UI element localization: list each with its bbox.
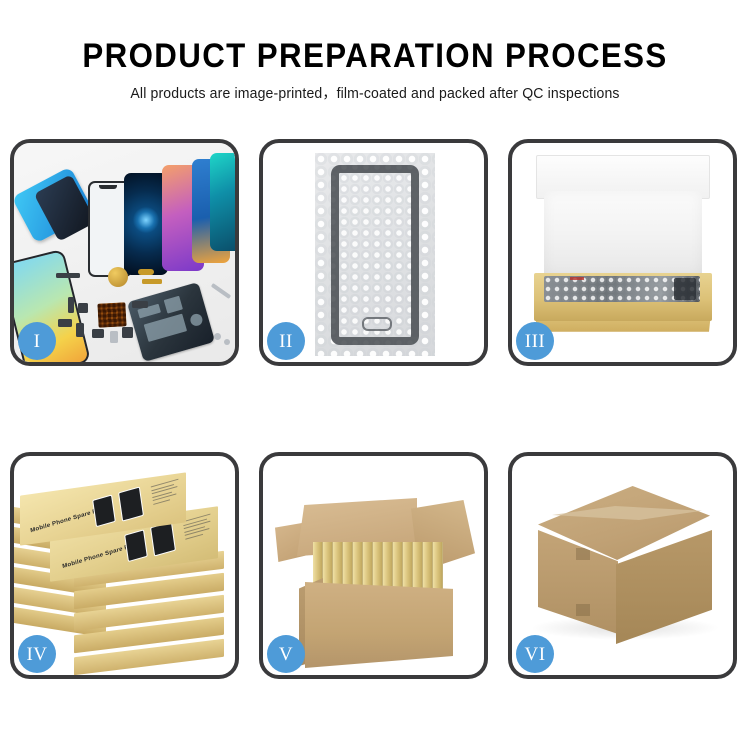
part-small-2 — [78, 303, 88, 313]
packed-screen — [544, 276, 700, 302]
process-step-2: II — [259, 139, 488, 366]
step-badge-4: IV — [18, 635, 56, 673]
home-button — [362, 317, 392, 331]
process-step-6: VI — [508, 452, 737, 679]
part-small-6 — [110, 331, 118, 343]
process-step-4: Mobile Phone Spare Parts Mobile Phone Sp… — [10, 452, 239, 679]
part-speaker-mesh — [56, 273, 80, 278]
part-small-7 — [122, 327, 133, 338]
part-small-1 — [68, 297, 74, 313]
part-gold-flex — [138, 269, 154, 275]
part-connector-grid — [97, 302, 126, 327]
step-badge-3: III — [516, 322, 554, 360]
part-screw-1 — [214, 333, 221, 340]
part-small-3 — [58, 319, 72, 327]
page-subtitle: All products are image-printed，film-coat… — [11, 76, 739, 103]
process-step-5: V — [259, 452, 488, 679]
product-preparation-infographic: PRODUCT PREPARATION PROCESS All products… — [0, 0, 750, 750]
process-step-3: III — [508, 139, 737, 366]
process-step-1: I — [10, 139, 239, 366]
part-screw-2 — [224, 339, 230, 345]
step-badge-5: V — [267, 635, 305, 673]
header: PRODUCT PREPARATION PROCESS All products… — [0, 0, 750, 103]
process-row-top: I II — [10, 139, 740, 366]
process-step-grid: I II — [10, 139, 740, 679]
carton-front-panel — [305, 582, 453, 668]
process-row-bottom: Mobile Phone Spare Parts Mobile Phone Sp… — [10, 452, 740, 679]
step-badge-1: I — [18, 322, 56, 360]
part-small-5 — [92, 329, 104, 338]
foam-liner — [544, 191, 702, 277]
page-title: PRODUCT PREPARATION PROCESS — [30, 0, 720, 76]
part-gold-flex-2 — [142, 279, 162, 284]
phone-teal-wave — [210, 153, 235, 251]
step-badge-2: II — [267, 322, 305, 360]
part-vibration-motor — [108, 267, 128, 287]
bubble-wrap-sheet — [315, 153, 435, 356]
step-badge-6: VI — [516, 635, 554, 673]
phone-glass-panel — [331, 165, 419, 345]
part-small-4 — [76, 323, 84, 337]
part-small-8 — [132, 301, 148, 308]
